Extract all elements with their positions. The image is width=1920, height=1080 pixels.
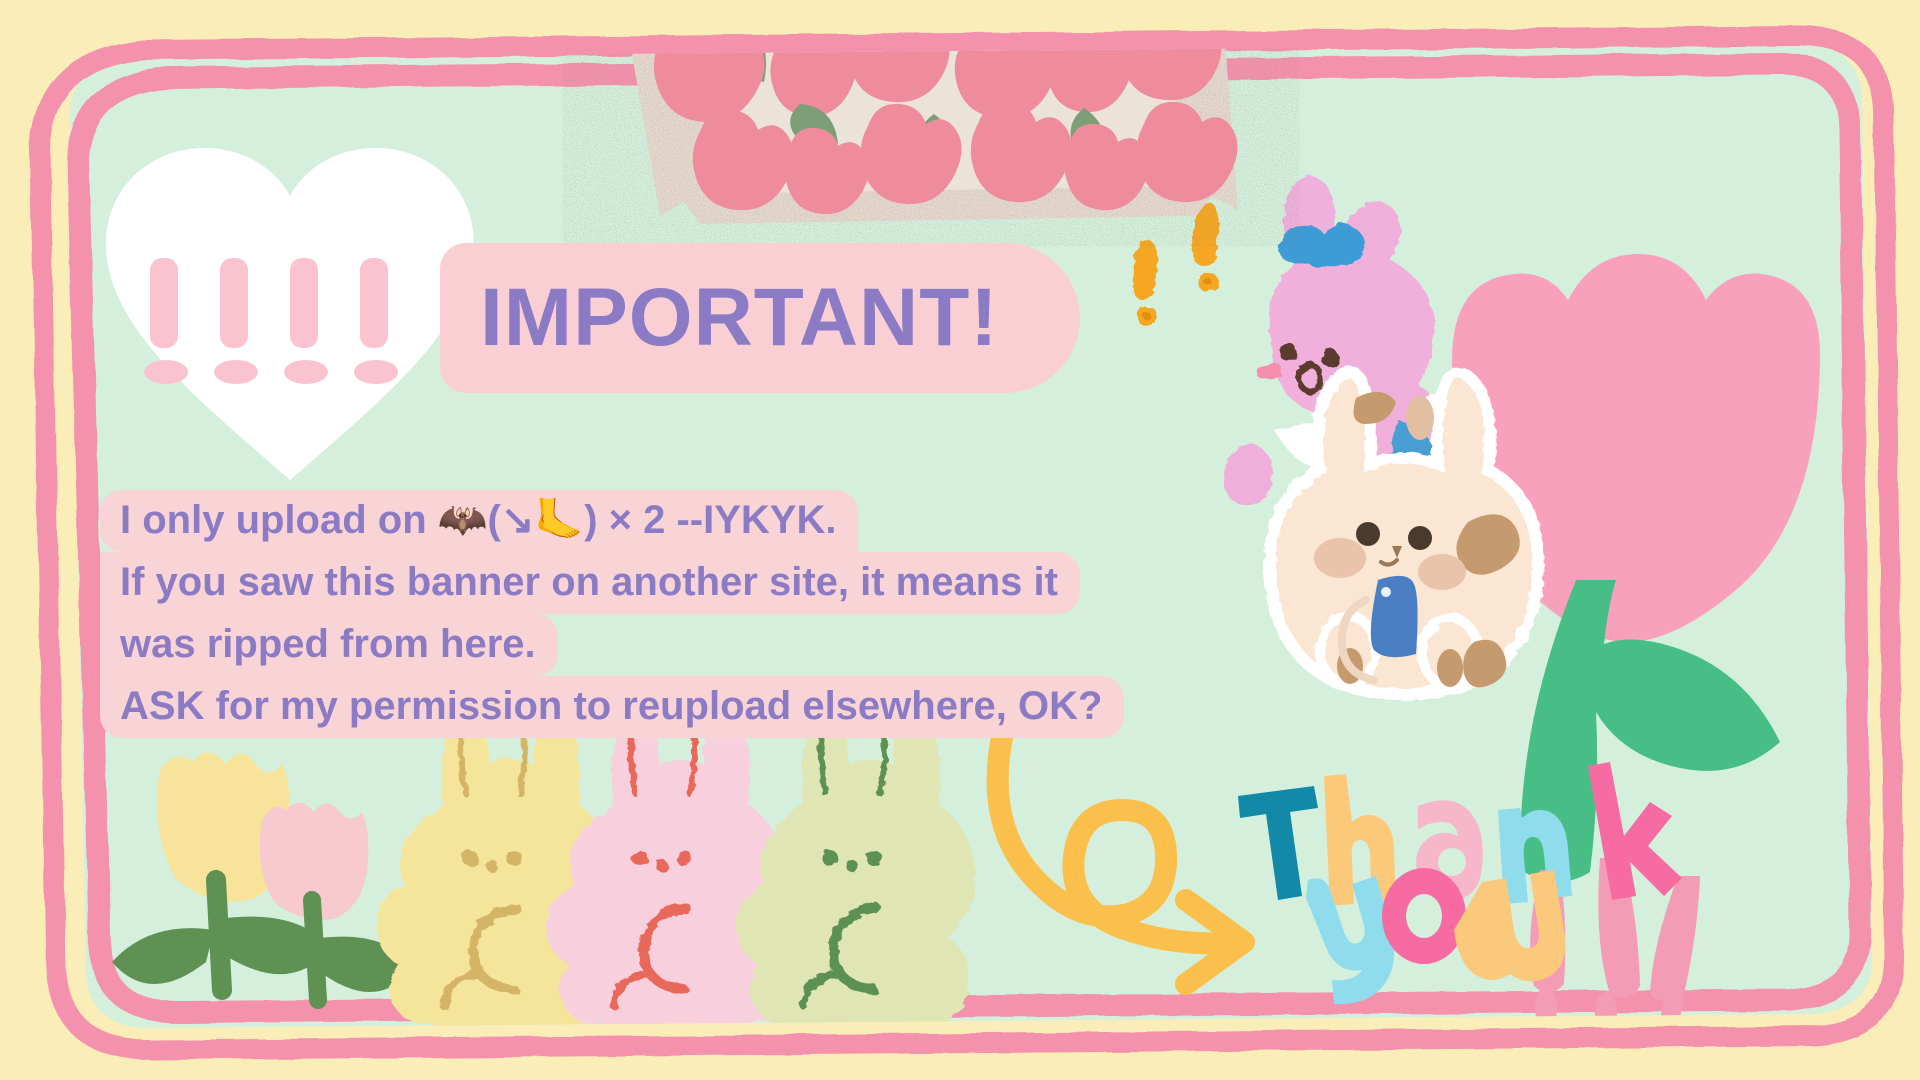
gummy-bunny-pink[interactable] xyxy=(547,700,785,1047)
curly-arrow-icon xyxy=(998,728,1244,984)
page-title: IMPORTANT! xyxy=(440,277,999,359)
bunny-exclamations xyxy=(1133,201,1219,326)
heart-badge xyxy=(106,148,474,480)
banner-canvas: IMPORTANT! I only upload on 🦇(↘🦶) × 2 --… xyxy=(0,0,1920,1080)
notice-text-block: I only upload on 🦇(↘🦶) × 2 --IYKYK. If y… xyxy=(100,490,1124,738)
thankyou-letter-o xyxy=(1382,868,1466,964)
notice-line-1: I only upload on 🦇(↘🦶) × 2 --IYKYK. xyxy=(100,490,858,552)
notice-line-2: If you saw this banner on another site, … xyxy=(100,552,1080,614)
notice-line-4: ASK for my permission to reupload elsewh… xyxy=(100,676,1124,738)
tulip-washi-tape xyxy=(624,2,1238,224)
thankyou-letter-T xyxy=(1238,786,1318,900)
gummy-bunny-green[interactable] xyxy=(737,700,975,1047)
important-heading-banner: IMPORTANT! xyxy=(440,243,1080,393)
notice-line-3: was ripped from here. xyxy=(100,614,558,676)
